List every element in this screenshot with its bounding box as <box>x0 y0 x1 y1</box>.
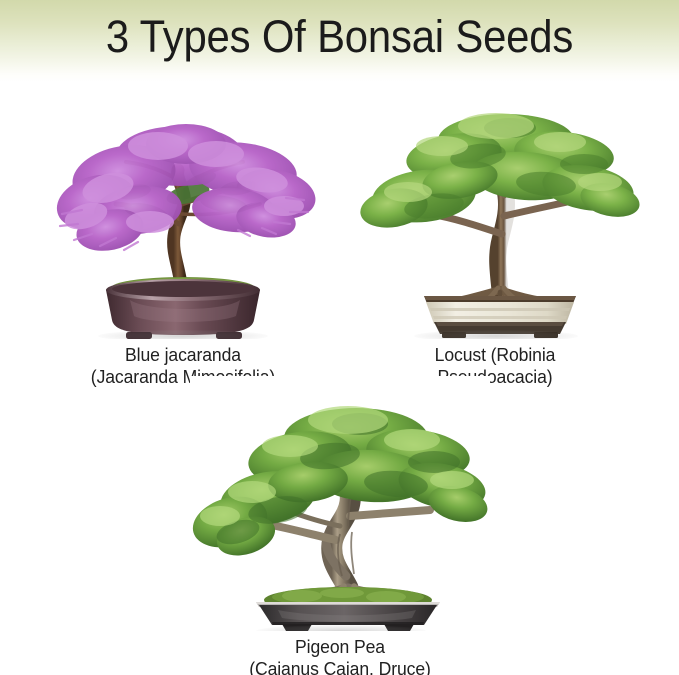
locust-illustration <box>350 84 640 339</box>
bonsai-infographic: 3 Types Of Bonsai Seeds <box>0 0 679 675</box>
caption-pigeon-pea: Pigeon Pea (Cajanus Cajan. Druce) <box>198 631 483 675</box>
pigeon-pea-illustration <box>190 376 490 631</box>
bonsai-card-blue-jacaranda: Blue jacaranda (Jacaranda Mimosifolia) <box>38 84 328 388</box>
jacaranda-illustration <box>38 84 328 339</box>
bonsai-card-locust-robinia: Locust (Robinia Pseudoacacia) <box>350 84 640 388</box>
common-name: Locust (Robinia <box>435 344 556 365</box>
botanical-name: (Cajanus Cajan. Druce) <box>198 658 483 675</box>
bonsai-photo-blue-jacaranda <box>38 84 328 339</box>
bonsai-photo-locust-robinia <box>350 84 640 339</box>
bonsai-photo-pigeon-pea <box>190 376 490 631</box>
common-name: Pigeon Pea <box>295 636 385 657</box>
header-banner: 3 Types Of Bonsai Seeds <box>0 0 679 82</box>
bonsai-card-pigeon-pea: Pigeon Pea (Cajanus Cajan. Druce) <box>190 376 490 675</box>
page-title: 3 Types Of Bonsai Seeds <box>24 9 655 65</box>
top-row: Blue jacaranda (Jacaranda Mimosifolia) <box>0 84 679 384</box>
bottom-row: Pigeon Pea (Cajanus Cajan. Druce) <box>0 376 679 675</box>
common-name: Blue jacaranda <box>125 344 241 365</box>
